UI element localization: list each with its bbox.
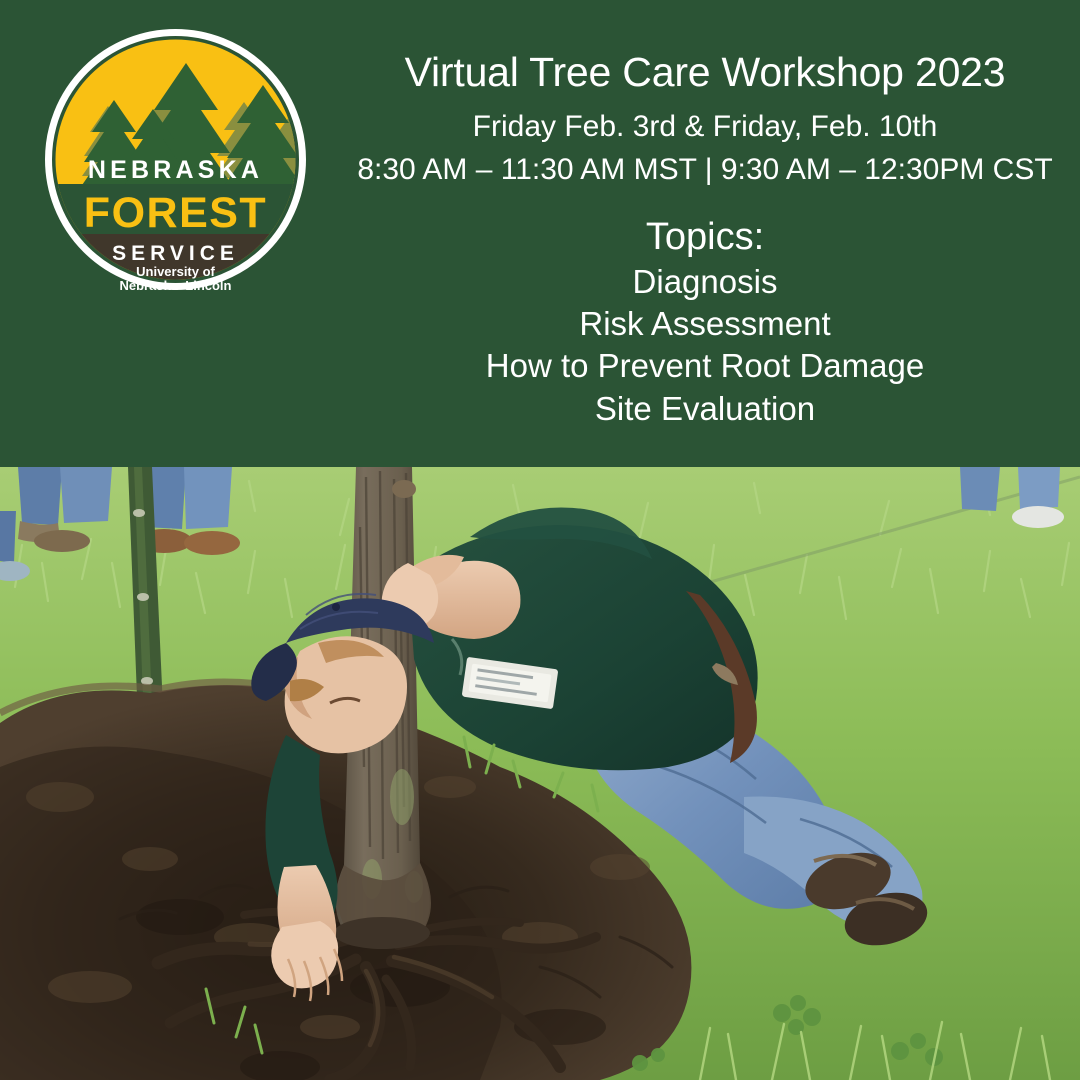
- header-text-column: Virtual Tree Care Workshop 2023 Friday F…: [330, 48, 1080, 430]
- topics-heading: Topics:: [330, 216, 1080, 259]
- topic-item-site-evaluation: Site Evaluation: [330, 388, 1080, 430]
- logo-text-forest: FOREST: [84, 189, 267, 237]
- logo-text-nebraska: NEBRASKA: [88, 156, 263, 184]
- photo-illustration: [0, 467, 1080, 1080]
- logo-text-service: SERVICE: [112, 242, 239, 265]
- topic-item-diagnosis: Diagnosis: [330, 261, 1080, 303]
- logo-graphic: NEBRASKA FOREST SERVICE University of Ne…: [42, 26, 309, 293]
- schedule-dates: Friday Feb. 3rd & Friday, Feb. 10th: [330, 106, 1080, 149]
- topic-item-root-damage: How to Prevent Root Damage: [330, 345, 1080, 387]
- poster-canvas: NEBRASKA FOREST SERVICE University of Ne…: [0, 0, 1080, 1080]
- logo-text-university: University of: [136, 264, 215, 279]
- tree-root-inspection-photo: [0, 467, 1080, 1080]
- schedule-times: 8:30 AM – 11:30 AM MST | 9:30 AM – 12:30…: [330, 149, 1080, 192]
- logo-text-campus: Nebraska–Lincoln: [120, 278, 232, 293]
- page-title: Virtual Tree Care Workshop 2023: [330, 48, 1080, 96]
- topic-item-risk-assessment: Risk Assessment: [330, 303, 1080, 345]
- nebraska-forest-service-logo: NEBRASKA FOREST SERVICE University of Ne…: [42, 26, 309, 293]
- topics-block: Topics: Diagnosis Risk Assessment How to…: [330, 216, 1080, 430]
